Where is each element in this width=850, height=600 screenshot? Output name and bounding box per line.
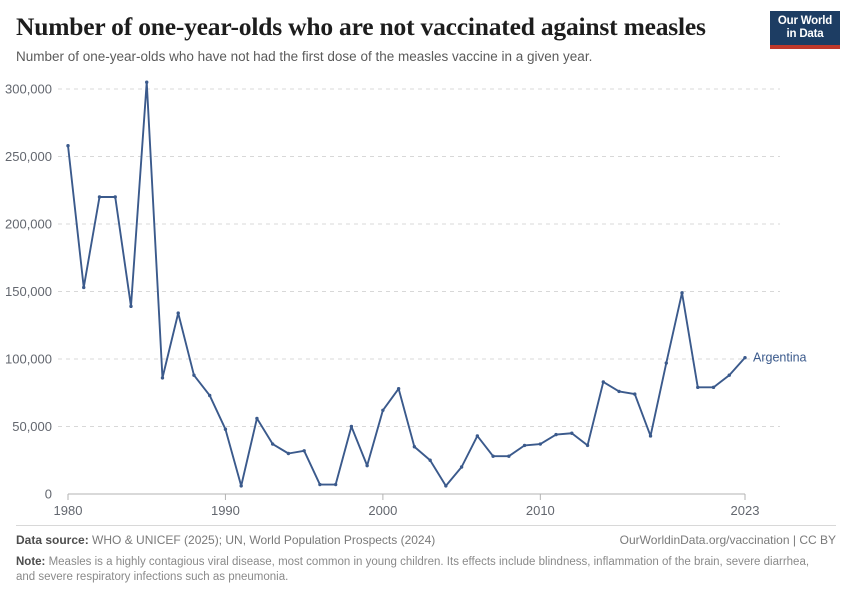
series-data-point[interactable] (507, 455, 510, 458)
y-tick-label: 0 (45, 487, 52, 502)
y-tick-label: 200,000 (5, 217, 52, 232)
series-data-point[interactable] (665, 361, 668, 364)
chart-subtitle: Number of one-year-olds who have not had… (16, 48, 834, 65)
owid-logo-line2: in Data (787, 28, 824, 41)
y-tick-label: 300,000 (5, 82, 52, 97)
series-data-point[interactable] (460, 465, 463, 468)
series-data-point[interactable] (570, 432, 573, 435)
series-data-point[interactable] (539, 442, 542, 445)
line-chart[interactable]: 050,000100,000150,000200,000250,000300,0… (0, 74, 850, 524)
series-data-point[interactable] (129, 305, 132, 308)
series-polyline[interactable] (68, 82, 745, 486)
series-data-point[interactable] (302, 449, 305, 452)
data-source-text: WHO & UNICEF (2025); UN, World Populatio… (89, 533, 436, 547)
series-data-point[interactable] (114, 195, 117, 198)
series-data-point[interactable] (491, 455, 494, 458)
series-data-point[interactable] (82, 286, 85, 289)
series-data-point[interactable] (586, 444, 589, 447)
series-data-point[interactable] (66, 144, 69, 147)
x-tick-label: 2010 (526, 503, 555, 518)
series-data-point[interactable] (602, 380, 605, 383)
owid-logo[interactable]: Our World in Data (770, 11, 840, 49)
series-data-point[interactable] (365, 464, 368, 467)
series-data-point[interactable] (208, 394, 211, 397)
series-data-point[interactable] (633, 392, 636, 395)
x-tick-label: 2023 (731, 503, 760, 518)
footer-source-row: Data source: WHO & UNICEF (2025); UN, Wo… (16, 533, 836, 548)
series-data-point[interactable] (649, 434, 652, 437)
x-tick-label: 1990 (211, 503, 240, 518)
series-data-point[interactable] (743, 356, 746, 359)
chart-note: Note: Measles is a highly contagious vir… (16, 555, 816, 585)
series-data-point[interactable] (728, 374, 731, 377)
series-data-point[interactable] (413, 445, 416, 448)
series-data-point[interactable] (476, 434, 479, 437)
series-label-argentina: Argentina (753, 351, 807, 365)
series-data-point[interactable] (255, 417, 258, 420)
x-tick-label: 2000 (368, 503, 397, 518)
series-data-point[interactable] (145, 81, 148, 84)
series-label-group: Argentina (753, 351, 807, 365)
series-data-point[interactable] (287, 452, 290, 455)
owid-logo-line1: Our World (778, 15, 832, 28)
chart-footer: Data source: WHO & UNICEF (2025); UN, Wo… (16, 525, 836, 585)
data-source: Data source: WHO & UNICEF (2025); UN, Wo… (16, 533, 435, 548)
chart-area[interactable]: 050,000100,000150,000200,000250,000300,0… (0, 74, 850, 524)
series-data-point[interactable] (224, 428, 227, 431)
series-data-point[interactable] (554, 433, 557, 436)
x-tick-label: 1980 (54, 503, 83, 518)
attribution-link[interactable]: OurWorldinData.org/vaccination | CC BY (620, 533, 836, 548)
chart-header: Number of one-year-olds who are not vacc… (16, 12, 834, 68)
note-text: Measles is a highly contagious viral dis… (16, 556, 809, 583)
series-data-point[interactable] (397, 387, 400, 390)
series-data-point[interactable] (617, 390, 620, 393)
note-label: Note: (16, 556, 45, 568)
series-data-point[interactable] (428, 459, 431, 462)
y-tick-label: 150,000 (5, 284, 52, 299)
y-tick-label: 250,000 (5, 149, 52, 164)
y-tick-label: 50,000 (12, 419, 52, 434)
y-tick-label: 100,000 (5, 352, 52, 367)
series-data-point[interactable] (161, 376, 164, 379)
chart-page: Number of one-year-olds who are not vacc… (0, 0, 850, 600)
series-data-point[interactable] (318, 483, 321, 486)
series-data-point[interactable] (523, 444, 526, 447)
chart-gridlines (58, 89, 780, 427)
series-data-point[interactable] (334, 483, 337, 486)
series-data-point[interactable] (98, 195, 101, 198)
y-axis: 050,000100,000150,000200,000250,000300,0… (5, 82, 52, 502)
series-data-point[interactable] (239, 484, 242, 487)
series-data-point[interactable] (381, 409, 384, 412)
series-data-point[interactable] (680, 291, 683, 294)
x-axis: 19801990200020102023 (54, 494, 760, 518)
series-data-point[interactable] (177, 311, 180, 314)
series-data-point[interactable] (696, 386, 699, 389)
series-data-point[interactable] (712, 386, 715, 389)
series-data-point[interactable] (192, 374, 195, 377)
series-data-point[interactable] (444, 484, 447, 487)
series-data-point[interactable] (350, 425, 353, 428)
data-source-label: Data source: (16, 533, 89, 547)
series-data-point[interactable] (271, 442, 274, 445)
page-title: Number of one-year-olds who are not vacc… (16, 12, 834, 42)
footer-divider (16, 525, 836, 526)
